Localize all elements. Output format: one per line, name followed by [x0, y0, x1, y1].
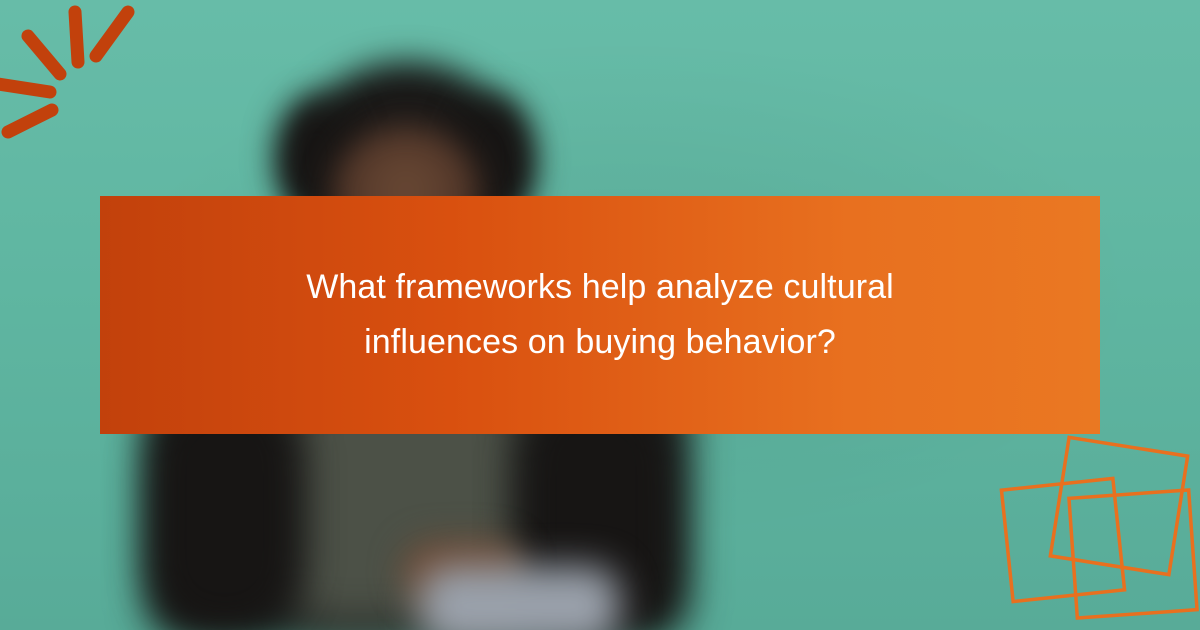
headline-text: What frameworks help analyze cultural in…	[230, 260, 970, 370]
sparkle-burst-icon	[0, 0, 170, 160]
overlapping-squares-icon	[985, 420, 1200, 630]
social-card: What frameworks help analyze cultural in…	[0, 0, 1200, 630]
headline-banner: What frameworks help analyze cultural in…	[100, 196, 1100, 434]
person-trousers	[420, 566, 620, 630]
